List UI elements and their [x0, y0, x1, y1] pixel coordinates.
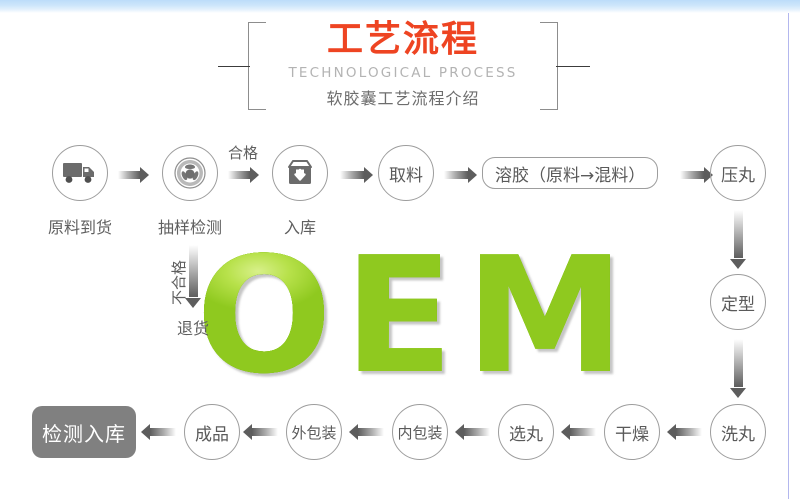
- edge-label-reject: 不合格: [168, 260, 189, 305]
- page-subtitle-en: TECHNOLOGICAL PROCESS: [248, 64, 558, 82]
- node-outer-packaging[interactable]: 外包装: [286, 404, 342, 460]
- node-final-inspection-storage[interactable]: 检测入库: [32, 406, 136, 458]
- node-raw-material-arrival[interactable]: [52, 145, 108, 201]
- node-material-pickup[interactable]: 取料: [378, 145, 434, 201]
- arrow-drying-to-sorting: [562, 424, 596, 440]
- arrow-sorting-to-inner-pack: [456, 424, 490, 440]
- node-sampling-inspection[interactable]: [162, 145, 218, 201]
- arrow-warehouse-to-pickup: [340, 167, 372, 183]
- edge-label-pass: 合格: [228, 142, 258, 163]
- node-pellet-sorting[interactable]: 选丸: [498, 404, 554, 460]
- process-flow-poster: 工艺流程 TECHNOLOGICAL PROCESS 软胶囊工艺流程介绍 OEM…: [0, 0, 800, 499]
- page-title: 工艺流程: [248, 18, 558, 62]
- oem-watermark: OEM: [196, 236, 637, 396]
- node-inner-packaging[interactable]: 内包装: [392, 404, 448, 460]
- title-block: 工艺流程 TECHNOLOGICAL PROCESS 软胶囊工艺流程介绍: [248, 22, 558, 110]
- right-vertical-rule: [788, 13, 789, 499]
- arrow-arrival-to-sampling: [118, 167, 148, 183]
- arrow-pickup-to-gel: [444, 167, 476, 183]
- inbox-download-icon: [285, 158, 315, 188]
- node-warehouse-in[interactable]: [272, 145, 328, 201]
- node-drying[interactable]: 干燥: [604, 404, 660, 460]
- node-pellet-pressing[interactable]: 压丸: [710, 145, 766, 201]
- arrow-gel-to-pressing: [680, 167, 712, 183]
- arrow-sampling-to-warehouse: [228, 167, 258, 183]
- left-tick-line: [218, 66, 250, 67]
- node-gel-melting[interactable]: 溶胶（原料→混料）: [482, 157, 658, 189]
- caption-raw-material-arrival: 原料到货: [32, 214, 128, 238]
- arrow-pressing-to-shaping: [730, 210, 747, 268]
- right-tick-line: [556, 66, 590, 67]
- node-finished-product[interactable]: 成品: [184, 404, 240, 460]
- node-return-goods: 退货: [160, 315, 226, 339]
- node-pellet-washing[interactable]: 洗丸: [710, 404, 766, 460]
- arrow-outer-to-finished: [244, 424, 278, 440]
- arrow-inner-to-outer-pack: [350, 424, 384, 440]
- truck-icon: [63, 161, 97, 185]
- arrow-shaping-to-washing: [730, 339, 747, 397]
- caption-sampling-inspection: 抽样检测: [142, 214, 238, 238]
- page-subtitle-cn: 软胶囊工艺流程介绍: [248, 86, 558, 112]
- arrow-washing-to-drying: [668, 424, 702, 440]
- inspection-gear-icon: [173, 156, 207, 190]
- top-blue-band: [0, 0, 800, 13]
- node-shaping[interactable]: 定型: [710, 274, 766, 330]
- arrow-finished-to-final-inspection: [142, 424, 176, 440]
- caption-warehouse-in: 入库: [252, 214, 348, 238]
